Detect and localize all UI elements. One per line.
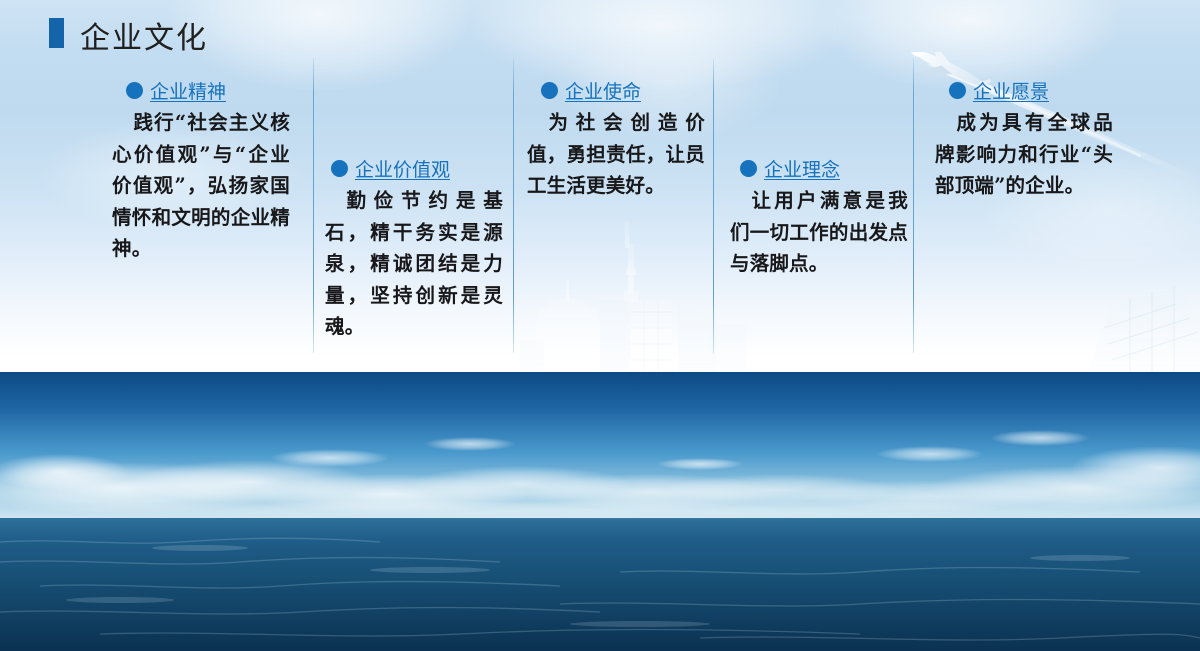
column-heading-row: 企业精神 — [126, 77, 290, 103]
bullet-circle-icon — [541, 82, 558, 99]
column-divider — [913, 58, 914, 353]
page-title: 企业文化 — [80, 13, 208, 57]
bullet-circle-icon — [126, 82, 143, 99]
culture-column-philosophy: 企业理念 让用户满意是我们一切工作的出发点与落脚点。 — [730, 155, 908, 280]
column-body-text: 为社会创造价值，勇担责任，让员工生活更美好。 — [527, 107, 705, 202]
column-heading-label: 企业理念 — [764, 155, 840, 182]
column-heading-row: 企业愿景 — [949, 77, 1113, 103]
culture-column-spirit: 企业精神 践行“社会主义核心价值观”与“企业价值观”，弘扬家国情怀和文明的企业精… — [112, 77, 290, 265]
content-area: 企业文化 企业精神 践行“社会主义核心价值观”与“企业价值观”，弘扬家国情怀和文… — [0, 0, 1200, 372]
column-heading-label: 企业使命 — [565, 77, 641, 104]
culture-column-vision: 企业愿景 成为具有全球品牌影响力和行业“头部顶端”的企业。 — [935, 77, 1113, 202]
column-heading-label: 企业价值观 — [355, 155, 450, 182]
column-body-text: 勤俭节约是基石，精干务实是源泉，精诚团结是力量，坚持创新是灵魂。 — [325, 185, 503, 343]
bullet-circle-icon — [331, 160, 348, 177]
column-divider — [313, 58, 314, 353]
title-accent-bar — [49, 18, 64, 48]
column-heading-row: 企业使命 — [541, 77, 705, 103]
column-body-text: 成为具有全球品牌影响力和行业“头部顶端”的企业。 — [935, 107, 1113, 202]
column-heading-row: 企业价值观 — [331, 155, 503, 181]
column-heading-row: 企业理念 — [740, 155, 908, 181]
column-body-text: 践行“社会主义核心价值观”与“企业价值观”，弘扬家国情怀和文明的企业精神。 — [112, 107, 290, 265]
column-body-text: 让用户满意是我们一切工作的出发点与落脚点。 — [730, 185, 908, 280]
bullet-circle-icon — [740, 160, 757, 177]
culture-column-values: 企业价值观 勤俭节约是基石，精干务实是源泉，精诚团结是力量，坚持创新是灵魂。 — [325, 155, 503, 343]
column-heading-label: 企业精神 — [150, 77, 226, 104]
title-row: 企业文化 — [0, 8, 1200, 50]
sailboat-photo — [0, 372, 1200, 651]
column-divider — [513, 58, 514, 353]
culture-column-mission: 企业使命 为社会创造价值，勇担责任，让员工生活更美好。 — [527, 77, 705, 202]
column-heading-label: 企业愿景 — [973, 77, 1049, 104]
column-divider — [713, 58, 714, 353]
bullet-circle-icon — [949, 82, 966, 99]
